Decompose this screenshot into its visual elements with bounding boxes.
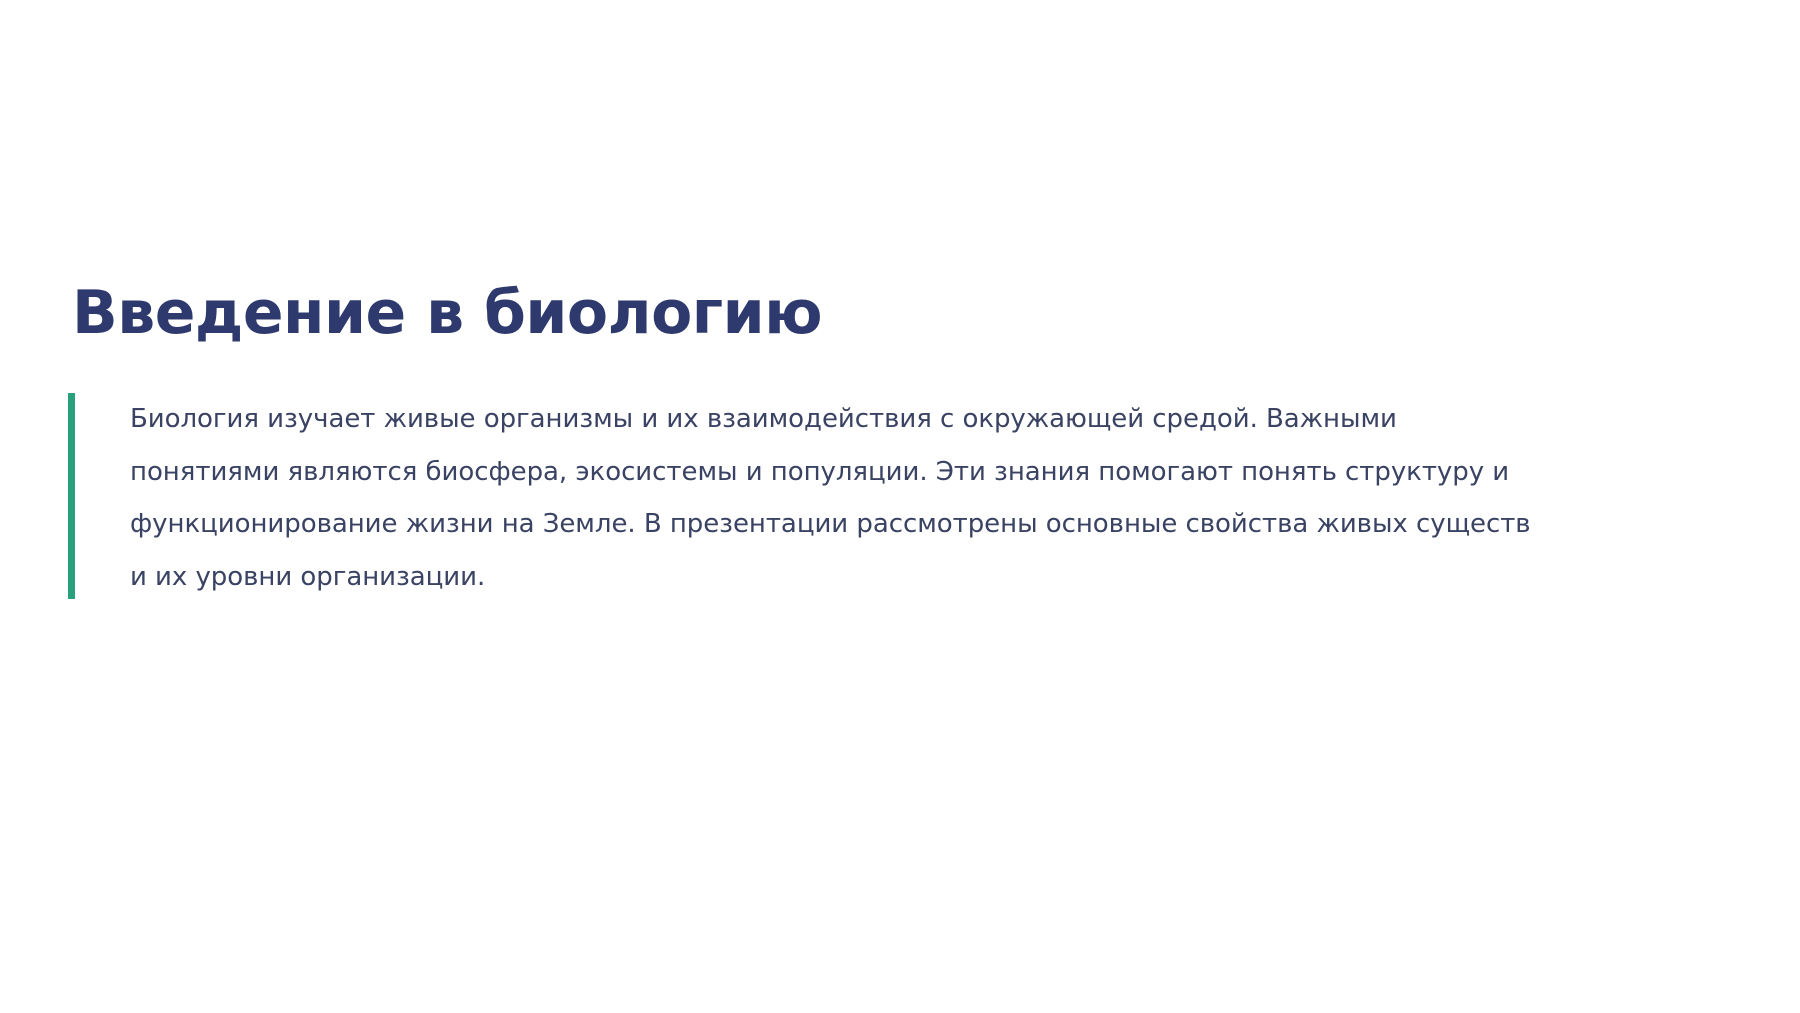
slide-title: Введение в биологию [68, 280, 1748, 347]
accent-bar [68, 393, 75, 599]
presentation-slide: Введение в биологию Биология изучает жив… [0, 0, 1800, 1013]
slide-content-area: Введение в биологию Биология изучает жив… [68, 280, 1748, 603]
body-paragraph: Биология изучает живые организмы и их вз… [130, 393, 1535, 603]
body-block: Биология изучает живые организмы и их вз… [68, 393, 1748, 603]
